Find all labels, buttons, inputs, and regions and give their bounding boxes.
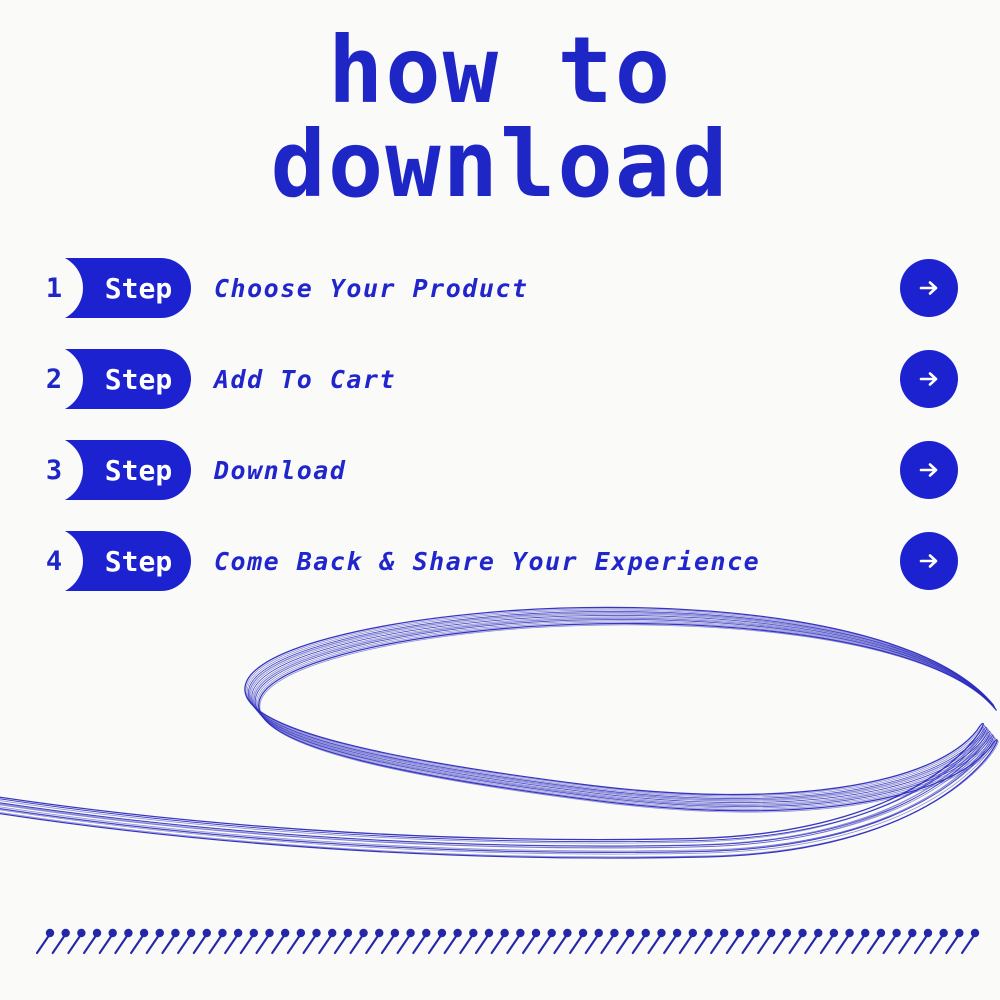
step-label: Choose Your Product: [214, 258, 528, 318]
arrow-right-icon: [914, 546, 944, 576]
arrow-right-icon: [914, 455, 944, 485]
step-row[interactable]: 4 Step Come Back & Share Your Experience: [0, 523, 1000, 614]
step-word: Step: [86, 531, 191, 591]
scribble-loop-graphic: [0, 590, 1000, 890]
step-row[interactable]: 3 Step Download: [0, 432, 1000, 523]
step-number: 1: [36, 258, 72, 318]
steps-list: 1 Step Choose Your Product 2 Step Add To…: [0, 250, 1000, 614]
poster-canvas: how to download 1 Step Choose Your Produ…: [0, 0, 1000, 1000]
arrow-right-icon: [914, 364, 944, 394]
page-title-line-2: download: [0, 118, 1000, 212]
step-word: Step: [86, 258, 191, 318]
step-word: Step: [86, 440, 191, 500]
arrow-right-icon: [914, 273, 944, 303]
pin-row-border: [0, 920, 1000, 970]
step-number: 3: [36, 440, 72, 500]
step-number: 4: [36, 531, 72, 591]
step-arrow-button[interactable]: [900, 259, 958, 317]
page-title: how to download: [0, 24, 1000, 212]
step-label: Come Back & Share Your Experience: [214, 531, 760, 591]
step-label: Download: [214, 440, 346, 500]
step-arrow-button[interactable]: [900, 532, 958, 590]
step-arrow-button[interactable]: [900, 350, 958, 408]
step-label: Add To Cart: [214, 349, 396, 409]
step-row[interactable]: 1 Step Choose Your Product: [0, 250, 1000, 341]
step-word: Step: [86, 349, 191, 409]
step-number: 2: [36, 349, 72, 409]
page-title-line-1: how to: [0, 24, 1000, 118]
step-row[interactable]: 2 Step Add To Cart: [0, 341, 1000, 432]
step-arrow-button[interactable]: [900, 441, 958, 499]
